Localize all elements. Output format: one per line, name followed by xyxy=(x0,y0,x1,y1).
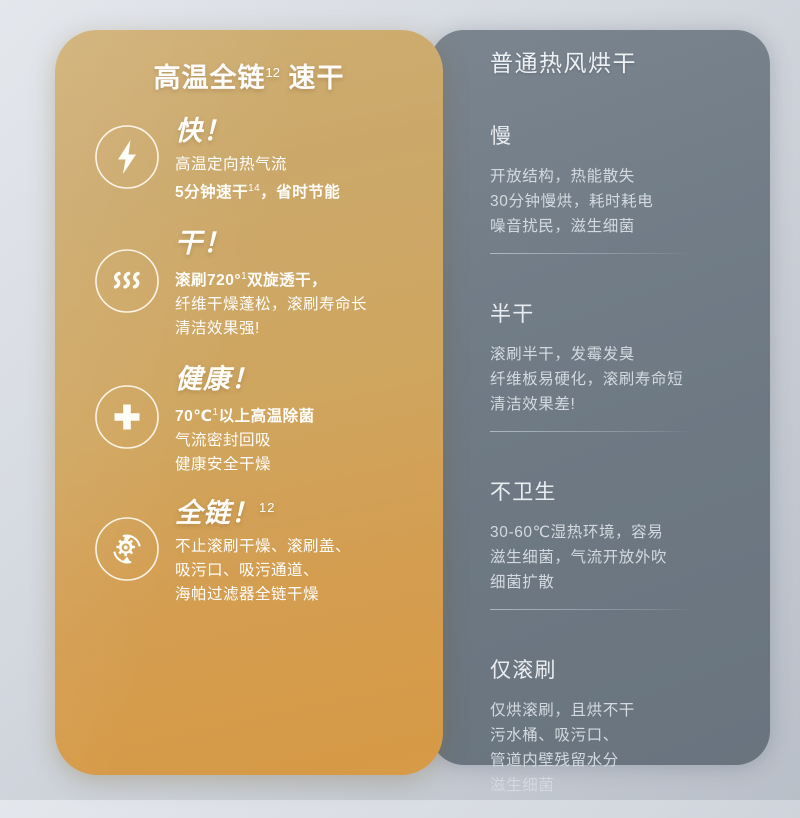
feature-item-dry: 干！ 滚刷720°1双旋透干， 纤维干燥蓬松，滚刷寿命长 清洁效果强! xyxy=(55,221,443,341)
feature-line: 清洁效果强! xyxy=(175,317,367,341)
section-divider xyxy=(490,609,692,610)
feature-item-fast: 快！ 高温定向热气流 5分钟速干14，省时节能 xyxy=(55,109,443,205)
feature-line: 气流密封回吸 xyxy=(175,429,315,453)
feature-line: 海帕过滤器全链干燥 xyxy=(175,583,351,607)
feature-heading: 快！ xyxy=(175,109,340,148)
lightning-bolt-icon xyxy=(93,123,161,191)
comparison-body-line: 细菌扩散 xyxy=(490,570,770,595)
feature-text-fast: 快！ 高温定向热气流 5分钟速干14，省时节能 xyxy=(175,109,340,205)
comparison-body-line: 30-60℃湿热环境，容易 xyxy=(490,520,770,545)
comparison-block-body: 滚刷半干，发霉发臭 纤维板易硬化，滚刷寿命短 清洁效果差! xyxy=(490,342,770,417)
feature-line: 吸污口、吸污通道、 xyxy=(175,559,351,583)
comparison-panel: 普通热风烘干 慢 开放结构，热能散失 30分钟慢烘，耗时耗电 噪音扰民，滋生细菌… xyxy=(430,30,770,765)
feature-line: 5分钟速干14，省时节能 xyxy=(175,177,340,205)
comparison-body-line: 开放结构，热能散失 xyxy=(490,164,770,189)
comparison-body-line: 仅烘滚刷，且烘不干 xyxy=(490,698,770,723)
product-title-tail: 速干 xyxy=(288,63,344,93)
comparison-block-heading: 不卫生 xyxy=(490,476,770,506)
comparison-panel-title: 普通热风烘干 xyxy=(490,44,770,78)
feature-text-health: 健康！ 70℃1以上高温除菌 气流密封回吸 健康安全干燥 xyxy=(175,357,315,477)
feature-item-health: 健康！ 70℃1以上高温除菌 气流密封回吸 健康安全干燥 xyxy=(55,357,443,477)
feature-line: 健康安全干燥 xyxy=(175,453,315,477)
comparison-body-line: 清洁效果差! xyxy=(490,392,770,417)
product-feature-content: 高温全链12 速干 快！ 高温定向热气流 5分钟速干14，省时节能 xyxy=(55,30,443,775)
comparison-block-heading: 仅滚刷 xyxy=(490,654,770,684)
comparison-body-line: 噪音扰民，滋生细菌 xyxy=(490,214,770,239)
product-feature-card: 高温全链12 速干 快！ 高温定向热气流 5分钟速干14，省时节能 xyxy=(55,30,443,775)
comparison-block-body: 仅烘滚刷，且烘不干 污水桶、吸污口、 管道内壁残留水分 滋生细菌 xyxy=(490,698,770,798)
comparison-block: 仅滚刷 仅烘滚刷，且烘不干 污水桶、吸污口、 管道内壁残留水分 滋生细菌 xyxy=(490,654,770,818)
comparison-body-line: 滚刷半干，发霉发臭 xyxy=(490,342,770,367)
section-divider xyxy=(490,253,692,254)
feature-line: 纤维干燥蓬松，滚刷寿命长 xyxy=(175,293,367,317)
heat-waves-icon xyxy=(93,247,161,315)
feature-heading-footnote: 12 xyxy=(259,500,275,515)
product-title-footnote: 12 xyxy=(266,65,280,80)
feature-item-full-chain: 全链！12 不止滚刷干燥、滚刷盖、 吸污口、吸污通道、 海帕过滤器全链干燥 xyxy=(55,491,443,607)
feature-heading: 全链！12 xyxy=(175,491,351,530)
product-card-title: 高温全链12 速干 xyxy=(55,30,443,95)
plus-cross-icon xyxy=(93,383,161,451)
gear-cycle-icon xyxy=(93,515,161,583)
section-divider xyxy=(490,431,692,432)
comparison-block: 慢 开放结构，热能散失 30分钟慢烘，耗时耗电 噪音扰民，滋生细菌 xyxy=(490,120,770,298)
feature-line: 70℃1以上高温除菌 xyxy=(175,401,315,429)
comparison-body-line: 管道内壁残留水分 xyxy=(490,748,770,773)
comparison-body-line: 滋生细菌 xyxy=(490,773,770,798)
feature-line: 高温定向热气流 xyxy=(175,153,340,177)
feature-heading: 健康！ xyxy=(175,357,315,396)
feature-text-dry: 干！ 滚刷720°1双旋透干， 纤维干燥蓬松，滚刷寿命长 清洁效果强! xyxy=(175,221,367,341)
comparison-block-heading: 慢 xyxy=(490,120,770,150)
feature-footnote: 14 xyxy=(248,183,260,194)
comparison-block-body: 30-60℃湿热环境，容易 滋生细菌，气流开放外吹 细菌扩散 xyxy=(490,520,770,595)
feature-line: 滚刷720°1双旋透干， xyxy=(175,265,367,293)
comparison-body-line: 纤维板易硬化，滚刷寿命短 xyxy=(490,367,770,392)
comparison-body-line: 污水桶、吸污口、 xyxy=(490,723,770,748)
feature-line: 不止滚刷干燥、滚刷盖、 xyxy=(175,535,351,559)
comparison-block-heading: 半干 xyxy=(490,298,770,328)
comparison-block-body: 开放结构，热能散失 30分钟慢烘，耗时耗电 噪音扰民，滋生细菌 xyxy=(490,164,770,239)
comparison-block: 不卫生 30-60℃湿热环境，容易 滋生细菌，气流开放外吹 细菌扩散 xyxy=(490,476,770,654)
feature-text-full-chain: 全链！12 不止滚刷干燥、滚刷盖、 吸污口、吸污通道、 海帕过滤器全链干燥 xyxy=(175,491,351,607)
comparison-body-line: 滋生细菌，气流开放外吹 xyxy=(490,545,770,570)
comparison-panel-content: 普通热风烘干 慢 开放结构，热能散失 30分钟慢烘，耗时耗电 噪音扰民，滋生细菌… xyxy=(490,44,770,754)
product-title-main: 高温全链 xyxy=(154,63,266,93)
comparison-body-line: 30分钟慢烘，耗时耗电 xyxy=(490,189,770,214)
feature-heading: 干！ xyxy=(175,221,367,260)
comparison-block: 半干 滚刷半干，发霉发臭 纤维板易硬化，滚刷寿命短 清洁效果差! xyxy=(490,298,770,476)
